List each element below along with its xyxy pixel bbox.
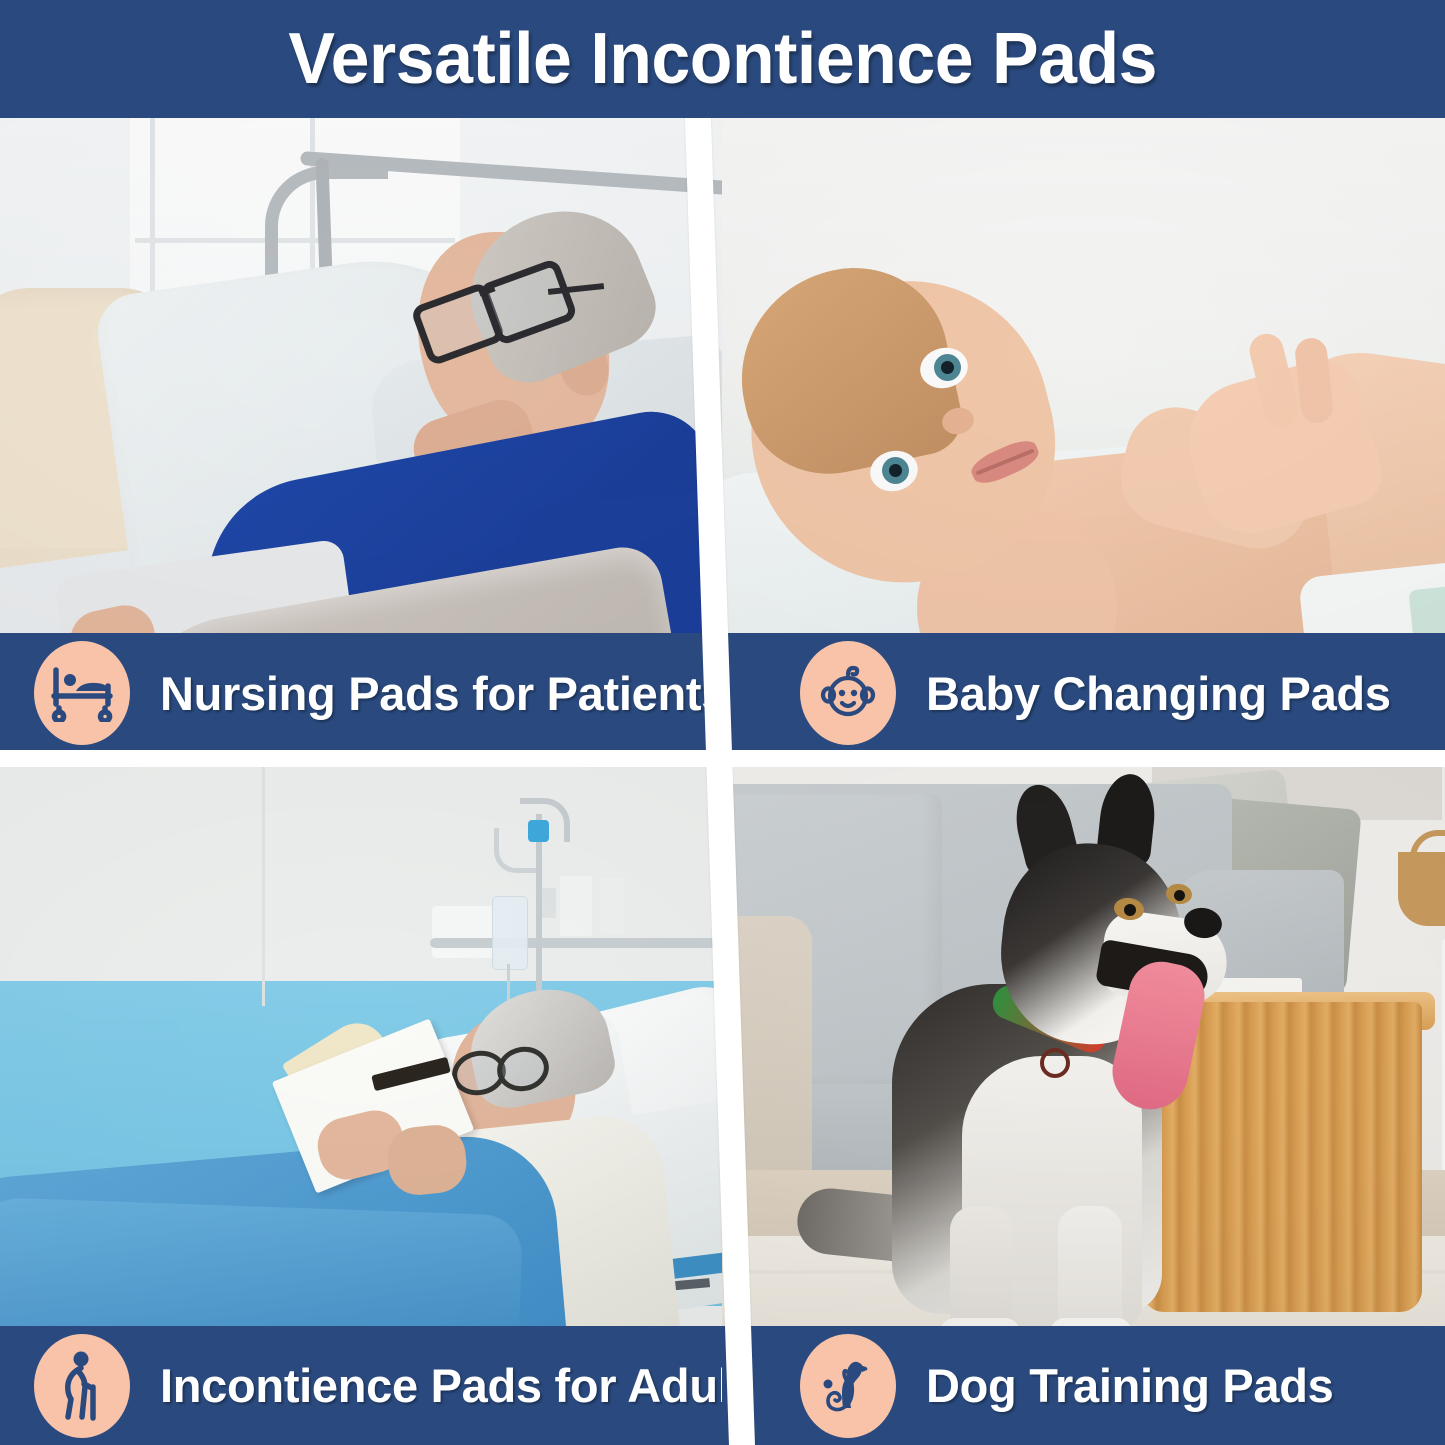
panel-label-baby: Baby Changing Pads (926, 666, 1391, 721)
poster-header: Versatile Incontience Pads (0, 0, 1445, 118)
label-band-baby: Baby Changing Pads (722, 633, 1445, 753)
photo-dog-training (722, 766, 1445, 1326)
elderly-person-with-cane-icon (34, 1334, 130, 1438)
hospital-bed-patient-icon (34, 641, 130, 745)
label-band-nursing: Nursing Pads for Patients (0, 633, 722, 753)
photo-nursing-patient (0, 118, 722, 633)
label-band-adults: Incontience Pads for Adults (0, 1326, 722, 1445)
panel-adults: Incontience Pads for Adults (0, 766, 722, 1445)
baby-face-icon (800, 641, 896, 745)
label-band-dog: Dog Training Pads (722, 1326, 1445, 1445)
photo-baby-changing (722, 118, 1445, 633)
panel-baby: Baby Changing Pads (722, 118, 1445, 753)
panel-label-adults: Incontience Pads for Adults (160, 1358, 722, 1413)
panel-nursing: Nursing Pads for Patients (0, 118, 722, 753)
panel-label-nursing: Nursing Pads for Patients (160, 666, 722, 721)
panel-dog: Dog Training Pads (722, 766, 1445, 1445)
product-infographic-poster: Versatile Incontience Pads (0, 0, 1445, 1445)
photo-adult-incontinence (0, 766, 722, 1326)
page-title: Versatile Incontience Pads (288, 23, 1157, 95)
panel-label-dog: Dog Training Pads (926, 1358, 1334, 1413)
dog-and-cat-icon (800, 1334, 896, 1438)
horizontal-divider (0, 750, 1445, 767)
